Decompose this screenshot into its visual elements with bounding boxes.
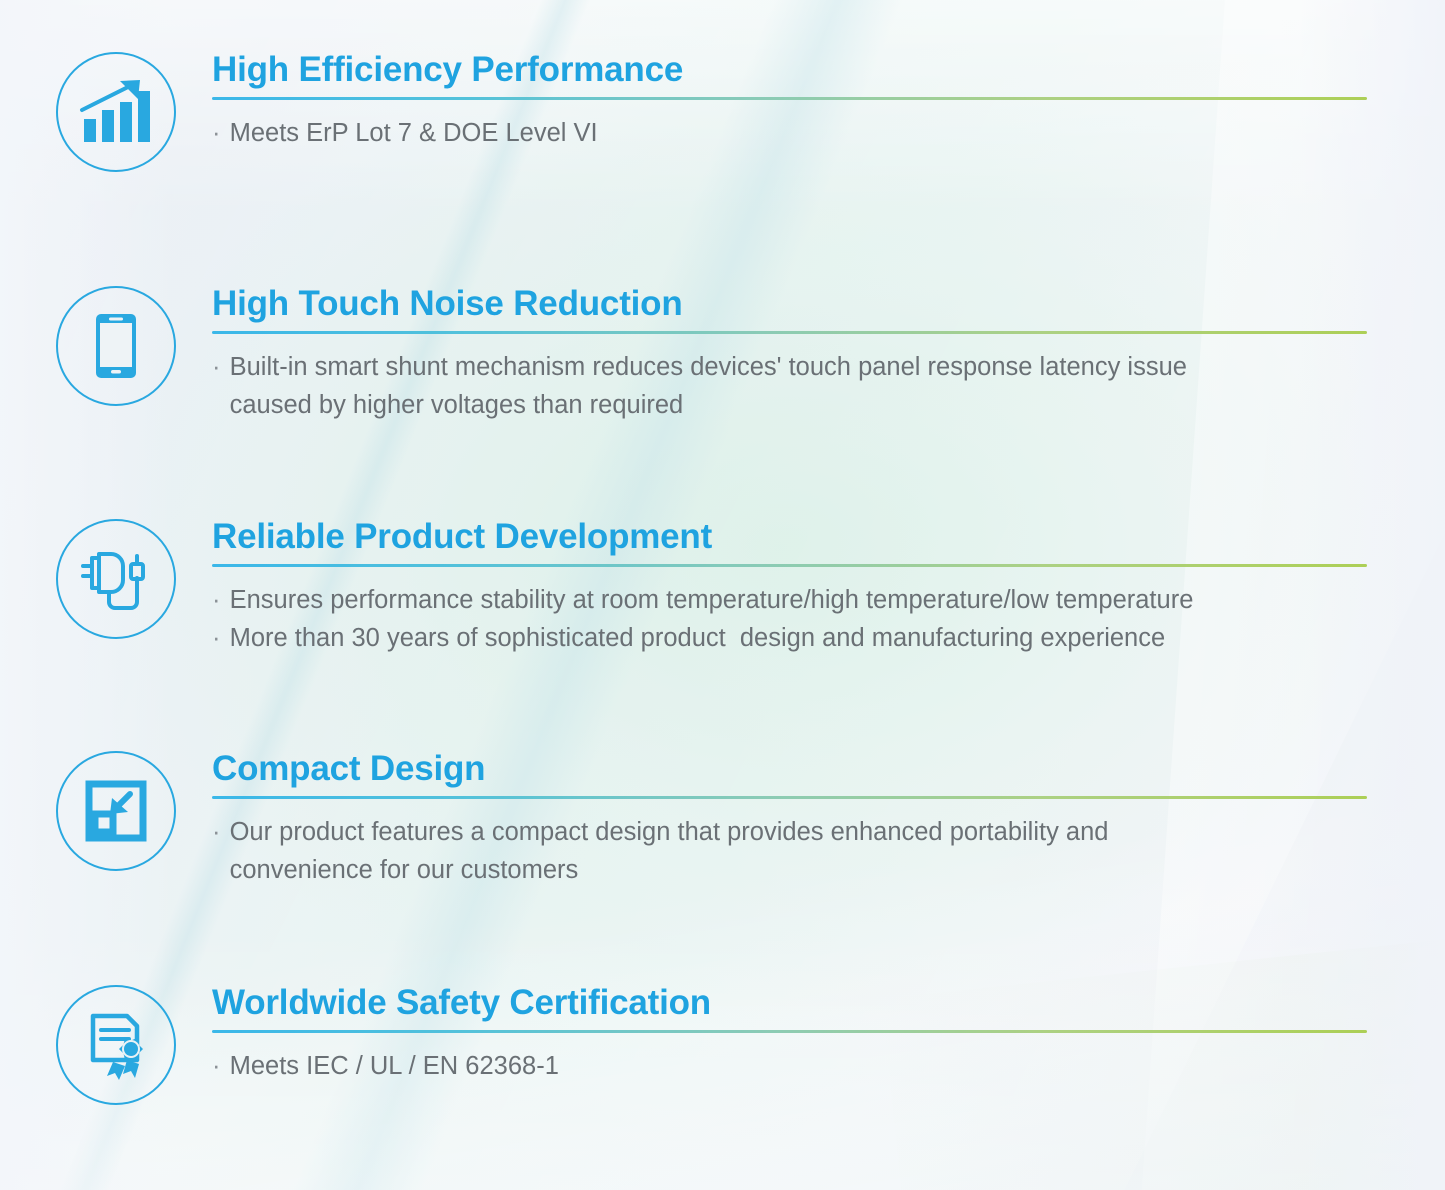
feature-title: Compact Design xyxy=(212,751,1445,788)
feature-text-block: Compact Design · Our product features a … xyxy=(212,751,1445,889)
bullet-item: · Ensures performance stability at room … xyxy=(212,581,1445,619)
feature-icon-container xyxy=(52,52,180,172)
feature-icon-container xyxy=(52,985,180,1105)
bullet-text: Ensures performance stability at room te… xyxy=(230,586,1194,614)
feature-icon-container xyxy=(52,286,180,406)
feature-list-page: High Efficiency Performance · Meets ErP … xyxy=(0,0,1445,1190)
bullet-text: Our product features a compact design th… xyxy=(230,813,1109,890)
bar-chart-growth-icon xyxy=(56,52,176,172)
bullet-item: · Meets ErP Lot 7 & DOE Level VI xyxy=(212,114,1445,152)
feature-text-block: Reliable Product Development · Ensures p… xyxy=(212,519,1445,657)
bullet-item: · Our product features a compact design … xyxy=(212,813,1445,890)
bullet-text: Meets IEC / UL / EN 62368-1 xyxy=(230,1052,559,1080)
feature-icon-container xyxy=(52,519,180,639)
feature-item-compact-design: Compact Design · Our product features a … xyxy=(0,751,1445,889)
feature-item-reliable-product-development: Reliable Product Development · Ensures p… xyxy=(0,519,1445,657)
bullet-text: Meets ErP Lot 7 & DOE Level VI xyxy=(230,119,598,147)
feature-bullet-list: · Ensures performance stability at room … xyxy=(212,581,1445,658)
bullet-marker: · xyxy=(212,353,221,381)
bullet-marker: · xyxy=(212,1052,221,1080)
feature-divider-rule xyxy=(212,97,1367,100)
feature-item-worldwide-safety-certification: Worldwide Safety Certification · Meets I… xyxy=(0,985,1445,1105)
feature-text-block: High Touch Noise Reduction · Built-in sm… xyxy=(212,286,1445,424)
bullet-item: · More than 30 years of sophisticated pr… xyxy=(212,619,1445,657)
bullet-marker: · xyxy=(212,624,221,652)
feature-divider-rule xyxy=(212,1030,1367,1033)
bullet-marker: · xyxy=(212,818,221,846)
bullet-marker: · xyxy=(212,119,221,147)
smartphone-icon xyxy=(56,286,176,406)
bullet-item: · Built-in smart shunt mechanism reduces… xyxy=(212,348,1445,425)
bullet-marker: · xyxy=(212,586,221,614)
feature-bullet-list: · Our product features a compact design … xyxy=(212,813,1445,890)
feature-item-high-efficiency-performance: High Efficiency Performance · Meets ErP … xyxy=(0,52,1445,172)
feature-title: Worldwide Safety Certification xyxy=(212,985,1445,1022)
feature-title: High Efficiency Performance xyxy=(212,52,1445,89)
feature-bullet-list: · Meets ErP Lot 7 & DOE Level VI xyxy=(212,114,1445,152)
feature-divider-rule xyxy=(212,331,1367,334)
feature-title: Reliable Product Development xyxy=(212,519,1445,556)
feature-divider-rule xyxy=(212,796,1367,799)
feature-text-block: High Efficiency Performance · Meets ErP … xyxy=(212,52,1445,152)
feature-icon-container xyxy=(52,751,180,871)
feature-item-high-touch-noise-reduction: High Touch Noise Reduction · Built-in sm… xyxy=(0,286,1445,424)
certificate-award-icon xyxy=(56,985,176,1105)
feature-title: High Touch Noise Reduction xyxy=(212,286,1445,323)
bullet-item: · Meets IEC / UL / EN 62368-1 xyxy=(212,1047,1445,1085)
feature-divider-rule xyxy=(212,564,1367,567)
compact-resize-icon xyxy=(56,751,176,871)
feature-bullet-list: · Built-in smart shunt mechanism reduces… xyxy=(212,348,1445,425)
bullet-text: More than 30 years of sophisticated prod… xyxy=(230,624,1166,652)
feature-bullet-list: · Meets IEC / UL / EN 62368-1 xyxy=(212,1047,1445,1085)
feature-text-block: Worldwide Safety Certification · Meets I… xyxy=(212,985,1445,1085)
power-adapter-icon xyxy=(56,519,176,639)
bullet-text: Built-in smart shunt mechanism reduces d… xyxy=(230,348,1187,425)
